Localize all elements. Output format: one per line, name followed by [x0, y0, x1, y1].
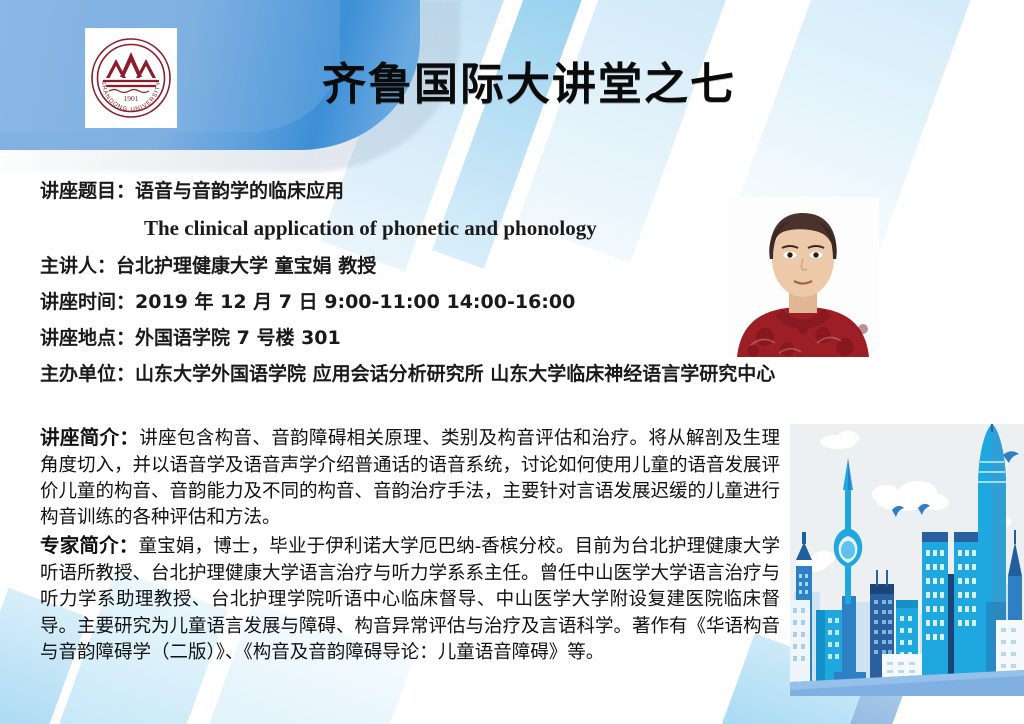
- description-block: 讲座简介：讲座包含构音、音韵障碍相关原理、类别及构音评估和治疗。将从解剖及生理角…: [40, 425, 780, 668]
- page-title: 齐鲁国际大讲堂之七: [322, 48, 736, 112]
- lecture-time-label: 讲座时间：: [40, 291, 135, 313]
- university-logo: 1901 SHANDONG UNIVERSITY: [85, 28, 177, 128]
- lecture-place-label: 讲座地点：: [40, 327, 135, 349]
- bio-paragraph: 专家简介：童宝娟，博士，毕业于伊利诺大学厄巴纳-香槟分校。目前为台北护理健康大学…: [40, 533, 780, 666]
- speaker-portrait-image: [727, 197, 879, 357]
- bio-label: 专家简介：: [40, 536, 138, 557]
- abstract-text: 讲座包含构音、音韵障碍相关原理、类别及构音评估和治疗。将从解剖及生理角度切入，并…: [40, 429, 780, 528]
- lecture-topic-label: 讲座题目：: [40, 180, 135, 202]
- abstract-paragraph: 讲座简介：讲座包含构音、音韵障碍相关原理、类别及构音评估和治疗。将从解剖及生理角…: [40, 425, 780, 531]
- shandong-university-seal-icon: 1901 SHANDONG UNIVERSITY: [89, 32, 173, 124]
- poster-root: 1901 SHANDONG UNIVERSITY 齐鲁国际大讲堂之七 讲座题目：…: [0, 0, 1024, 724]
- city-skyline-illustration: [790, 424, 1024, 696]
- lecture-topic-value: 语音与音韵学的临床应用: [135, 180, 344, 202]
- lecture-host-label: 主办单位：: [40, 363, 135, 385]
- lecture-place-value: 外国语学院 7 号楼 301: [135, 327, 341, 349]
- lecture-speaker-label: 主讲人：: [40, 255, 116, 277]
- logo-year: 1901: [124, 94, 139, 103]
- pale-tower-left: [790, 600, 810, 688]
- lecture-host-value: 山东大学外国语学院 应用会话分析研究所 山东大学临床神经语言学研究中心: [135, 363, 775, 385]
- abstract-label: 讲座简介：: [40, 428, 139, 449]
- bio-text: 童宝娟，博士，毕业于伊利诺大学厄巴纳-香槟分校。目前为台北护理健康大学听语所教授…: [40, 537, 780, 662]
- lecture-time-value: 2019 年 12 月 7 日 9:00-11:00 14:00-16:00: [135, 291, 575, 313]
- city-skyline-graphic: [790, 424, 1024, 696]
- lecture-speaker-value: 台北护理健康大学 童宝娟 教授: [116, 255, 376, 277]
- lecture-host-line: 主办单位：山东大学外国语学院 应用会话分析研究所 山东大学临床神经语言学研究中心: [40, 365, 860, 384]
- speaker-portrait: [727, 197, 879, 357]
